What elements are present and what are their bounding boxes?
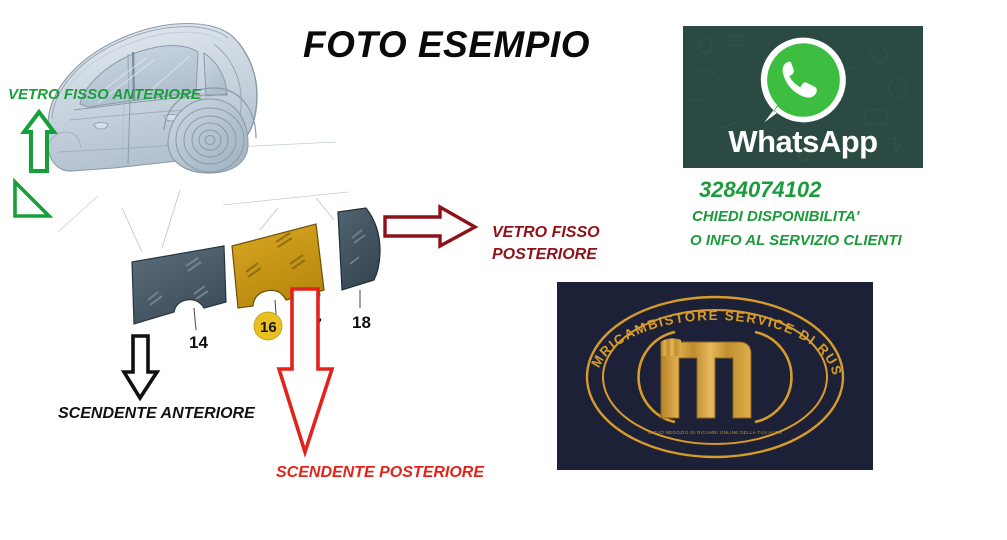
label-rear-fixed-glass-line1: VETRO FISSO xyxy=(492,222,642,244)
label-rear-fixed-glass: VETRO FISSO POSTERIORE xyxy=(492,222,642,266)
cta-line-1: CHIEDI DISPONIBILITA' xyxy=(692,208,859,225)
logo-monogram xyxy=(661,338,751,418)
shop-logo-banner: MRICAMBISTORE SERVICE DI RUSSO MARCO IL … xyxy=(557,282,873,470)
part-number-18: 18 xyxy=(352,313,371,332)
whatsapp-wordmark: WhatsApp xyxy=(683,124,923,160)
image-canvas: 14 16 17 18 xyxy=(0,0,1007,540)
page-title: FOTO ESEMPIO xyxy=(303,24,590,66)
cta-line-2: O INFO AL SERVIZIO CLIENTI xyxy=(690,232,902,249)
part-number-16: 16 xyxy=(260,319,277,336)
part-17-shape xyxy=(306,292,320,311)
label-rear-fixed-glass-line2: POSTERIORE xyxy=(492,244,642,266)
part-14-shape xyxy=(132,246,226,324)
exploded-glass-parts: 14 16 17 18 xyxy=(120,190,410,375)
logo-fine-print: IL TUO NEGOZIO DI RICAMBI ONLINE DELLA T… xyxy=(648,430,783,435)
label-front-drop-glass: SCENDENTE ANTERIORE xyxy=(58,405,255,423)
part-number-14: 14 xyxy=(189,333,208,352)
whatsapp-banner: WhatsApp xyxy=(683,26,923,168)
whatsapp-logo-icon xyxy=(757,34,849,126)
shop-logo-graphic: MRICAMBISTORE SERVICE DI RUSSO MARCO IL … xyxy=(557,282,873,470)
part-number-17: 17 xyxy=(303,315,322,334)
phone-number: 3284074102 xyxy=(699,177,821,203)
label-rear-drop-glass: SCENDENTE POSTERIORE xyxy=(276,464,484,482)
label-front-fixed-glass: VETRO FISSO ANTERIORE xyxy=(8,86,201,103)
part-18-shape xyxy=(338,208,380,290)
